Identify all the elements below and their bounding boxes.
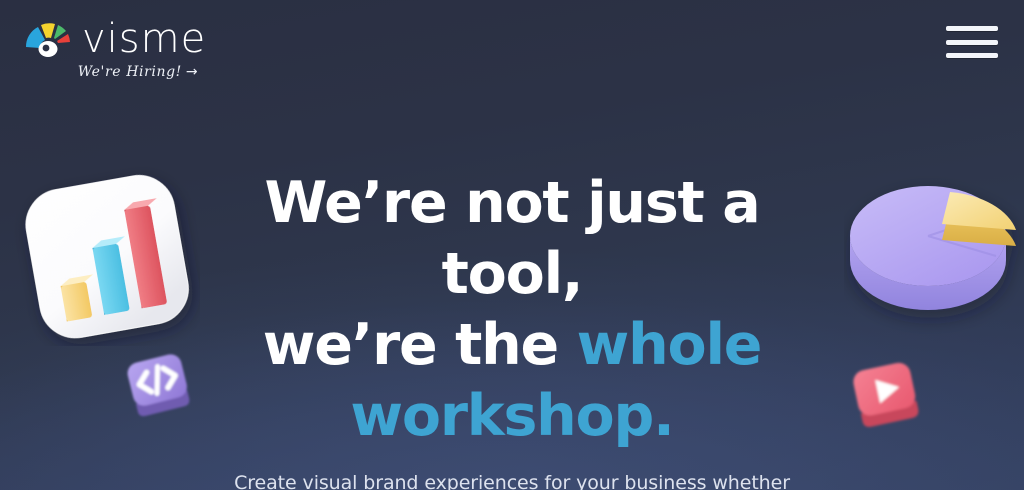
brand-wordmark: visme xyxy=(82,19,206,59)
brand-logo-link[interactable]: visme We're Hiring!→ xyxy=(24,14,206,80)
headline-line-3-accent: workshop. xyxy=(350,383,673,449)
headline-line-1: We’re not just a tool, xyxy=(265,170,760,307)
hero-section: visme We're Hiring!→ We’re not just a to… xyxy=(0,0,1024,490)
hero-subtitle: Create visual brand experiences for your… xyxy=(190,468,834,490)
page-title: We’re not just a tool, we’re the whole w… xyxy=(190,168,834,452)
hamburger-menu-button[interactable] xyxy=(946,22,998,62)
site-header: visme We're Hiring!→ xyxy=(0,0,1024,100)
brand-row: visme xyxy=(24,14,206,62)
headline-line-2-plain: we’re the xyxy=(263,312,577,378)
hamburger-bar-1 xyxy=(946,26,998,31)
visme-gauge-logo-icon xyxy=(24,16,76,60)
arrow-right-icon: → xyxy=(186,64,198,80)
headline-line-2-accent: whole xyxy=(577,312,762,378)
hiring-link[interactable]: We're Hiring!→ xyxy=(24,64,206,80)
hamburger-bar-2 xyxy=(946,40,998,45)
hiring-label: We're Hiring! xyxy=(78,64,182,80)
hamburger-bar-3 xyxy=(946,53,998,58)
hero-copy: We’re not just a tool, we’re the whole w… xyxy=(0,168,1024,490)
subtitle-line-1: Create visual brand experiences for your… xyxy=(234,472,790,490)
